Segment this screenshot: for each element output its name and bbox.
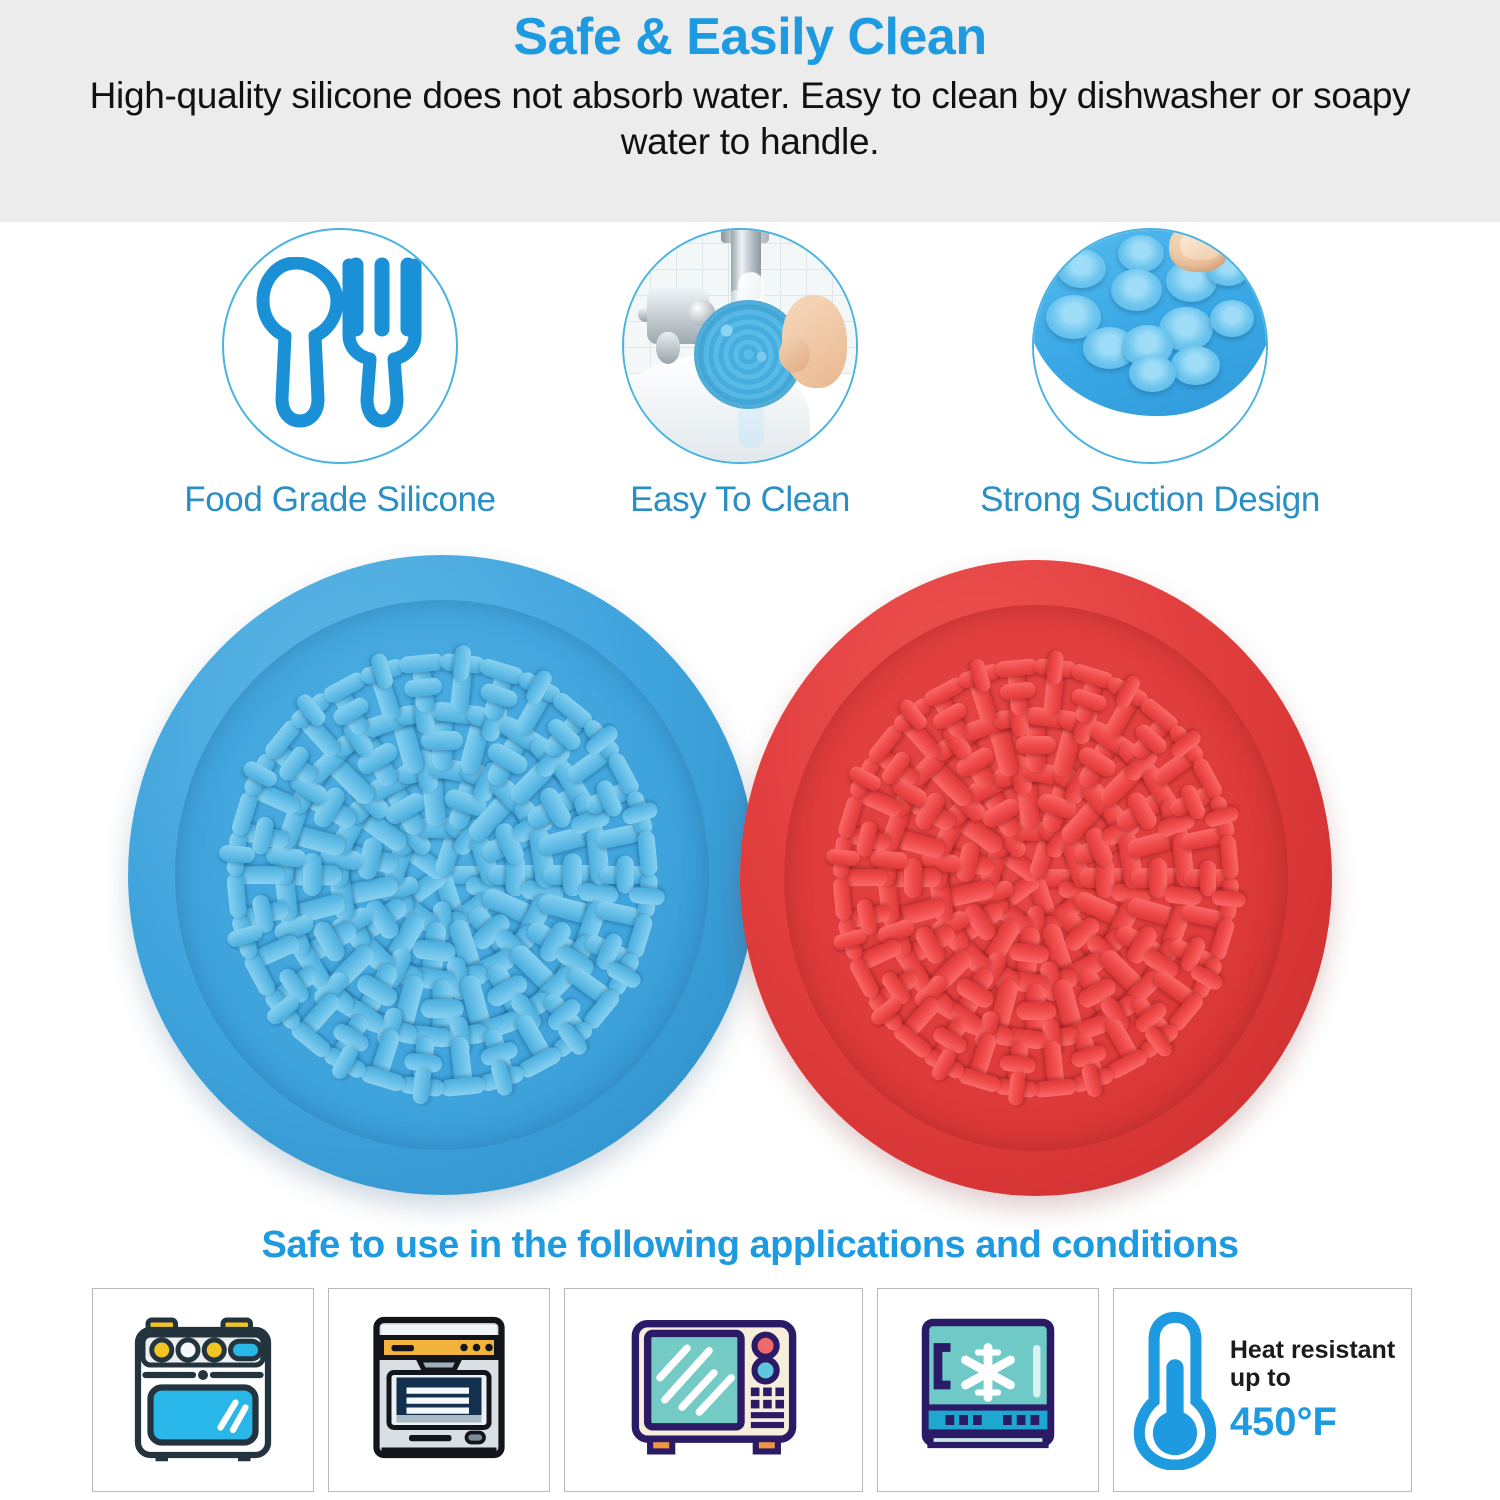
dishwasher-icon — [364, 1315, 514, 1465]
heat-line-1: Heat resistant — [1230, 1336, 1395, 1364]
mat-nub — [218, 844, 255, 864]
feature-row: Food Grade Silicone Easy To Clean — [0, 228, 1500, 528]
heat-resistant-content: Heat resistant up to 450°F — [1120, 1310, 1405, 1470]
feature-icon-circle — [622, 228, 858, 464]
mat-nub — [999, 682, 1036, 702]
mat-nub — [412, 1068, 432, 1105]
feature-label: Easy To Clean — [630, 480, 850, 520]
mat-nub — [1219, 835, 1239, 879]
panel-oven — [92, 1288, 314, 1492]
suction-cup — [1129, 355, 1175, 392]
feature-label: Food Grade Silicone — [184, 480, 495, 520]
fingernail — [1180, 228, 1222, 260]
suction-cup — [1210, 300, 1254, 337]
mat-nub-surface — [784, 605, 1287, 1152]
heat-temperature: 450°F — [1230, 1400, 1395, 1445]
mat-nub — [1008, 1071, 1027, 1106]
feature-strong-suction-design: Strong Suction Design — [930, 228, 1370, 520]
page-title: Safe & Easily Clean — [513, 10, 986, 65]
suction-cup-closeup-photo — [1034, 230, 1266, 462]
mat-nub — [1212, 889, 1247, 908]
page-subtitle: High-quality silicone does not absorb wa… — [85, 73, 1415, 166]
mat-nub — [1033, 1078, 1077, 1098]
freezer-icon — [913, 1315, 1063, 1465]
panel-dishwasher — [328, 1288, 550, 1492]
mat-nub — [398, 653, 445, 674]
mat-nub — [629, 886, 666, 906]
header-band: Safe & Easily Clean High-quality silicon… — [0, 0, 1500, 222]
thermometer-icon — [1130, 1310, 1220, 1470]
panel-freezer — [877, 1288, 1099, 1492]
feature-icon-circle — [222, 228, 458, 464]
applications-panel-row: Heat resistant up to 450°F — [92, 1288, 1412, 1492]
oven-icon — [128, 1315, 278, 1465]
feature-label: Strong Suction Design — [980, 480, 1320, 520]
mat-nub — [995, 658, 1039, 678]
red-lick-mat — [740, 560, 1332, 1196]
mat-nub — [825, 848, 860, 867]
suction-cup — [1057, 249, 1106, 288]
blue-lick-mat — [128, 555, 756, 1195]
heat-line-2: up to — [1230, 1364, 1395, 1392]
panel-heat-resistant: Heat resistant up to 450°F — [1113, 1288, 1412, 1492]
heat-resistant-text: Heat resistant up to 450°F — [1230, 1336, 1395, 1445]
panel-microwave — [564, 1288, 863, 1492]
mat-nub — [1016, 736, 1056, 754]
mat-nub — [637, 831, 658, 878]
product-photo-area — [0, 532, 1500, 1212]
microwave-icon — [628, 1315, 800, 1465]
suction-cup — [1111, 269, 1162, 311]
mat-nub — [869, 849, 909, 870]
thumb — [779, 337, 809, 372]
spoon-fork-icon — [252, 257, 428, 435]
mat-nub — [403, 677, 443, 698]
faucet-washing-photo — [624, 230, 856, 462]
feature-food-grade-silicone: Food Grade Silicone — [130, 228, 550, 520]
mat-nub-surface — [175, 600, 709, 1150]
applications-headline: Safe to use in the following application… — [0, 1224, 1500, 1267]
suction-cup — [1171, 346, 1220, 385]
feature-icon-circle — [1032, 228, 1268, 464]
suction-cup — [1118, 235, 1164, 272]
mat-nub — [439, 1076, 486, 1097]
feature-easy-to-clean: Easy To Clean — [550, 228, 930, 520]
